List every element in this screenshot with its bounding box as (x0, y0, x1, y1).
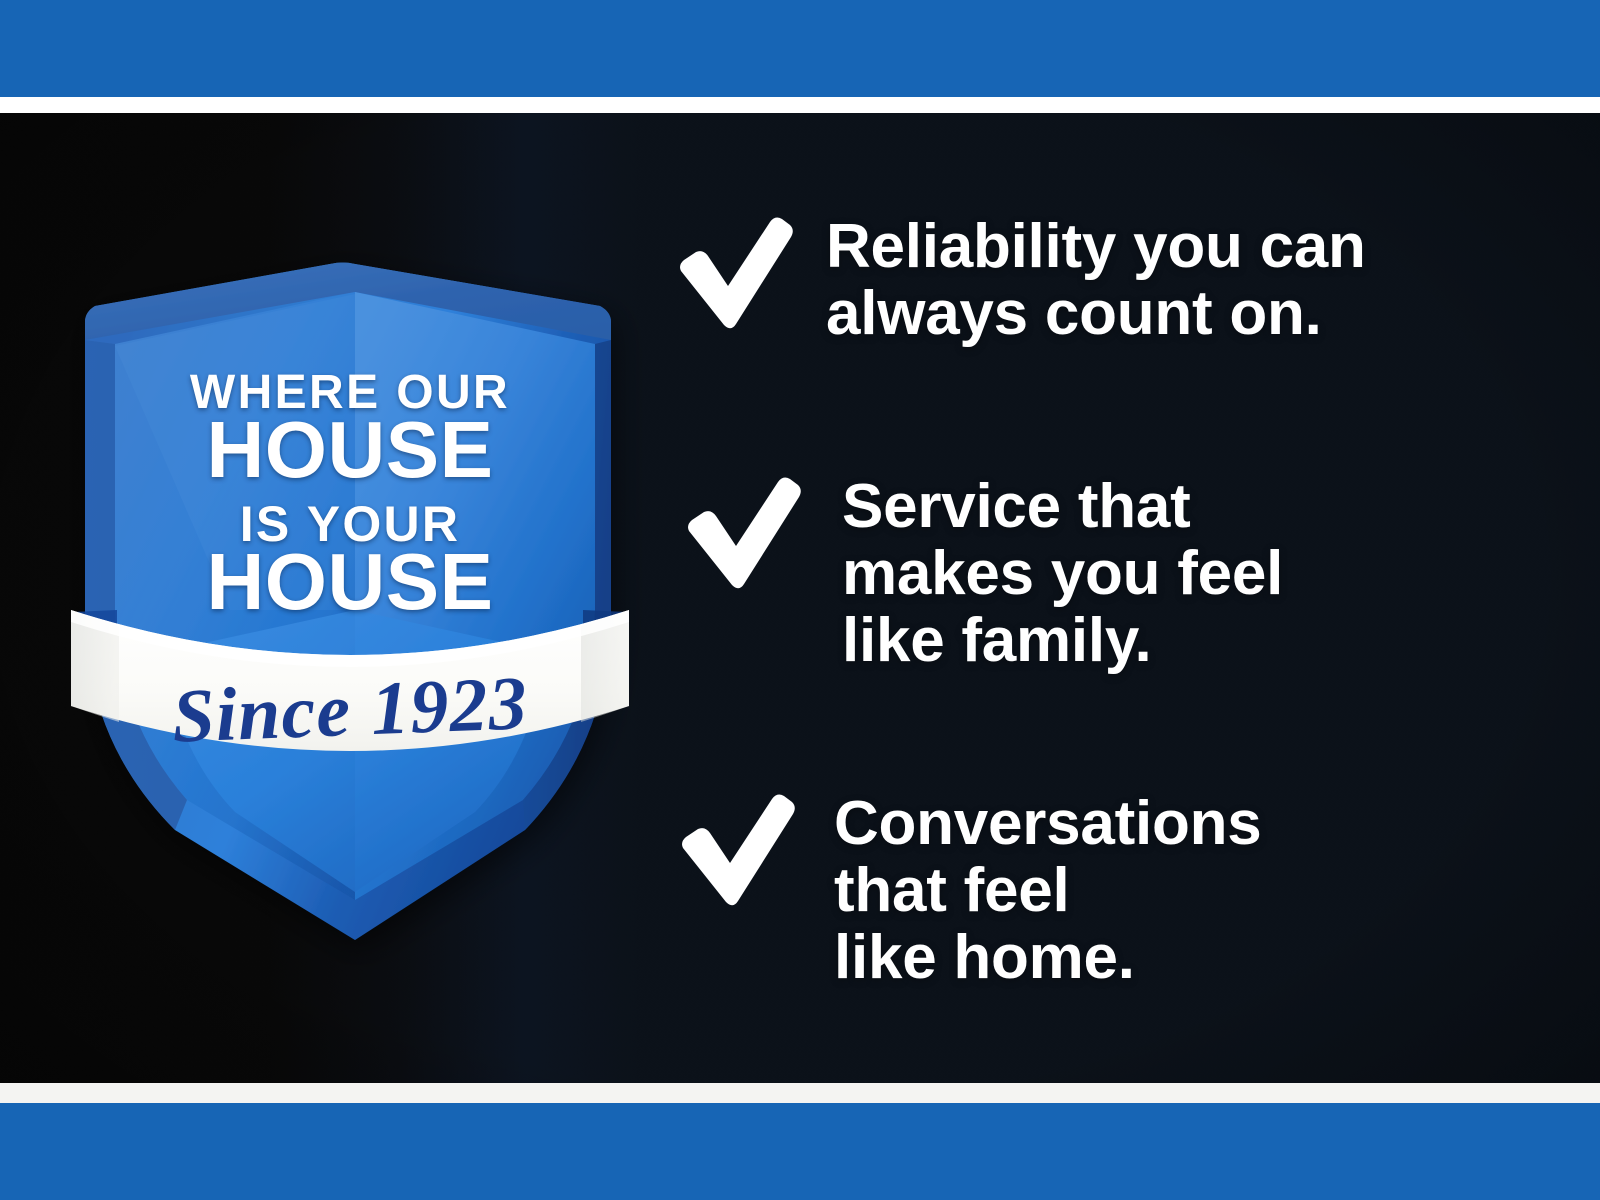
promo-graphic: WHERE OUR HOUSE IS YOUR HOUSE Since 1923… (0, 0, 1600, 1200)
benefit-text-3: Conversations that feel like home. (834, 785, 1261, 992)
top-brand-bar (0, 0, 1600, 97)
check-icon (678, 468, 804, 594)
shield-badge: WHERE OUR HOUSE IS YOUR HOUSE Since 1923 (55, 140, 645, 970)
benefits-list: Reliability you can always count on. Ser… (670, 113, 1560, 1083)
benefit-text-1: Reliability you can always count on. (826, 208, 1366, 348)
benefit-item-3: Conversations that feel like home. (672, 785, 1261, 992)
benefit-item-1: Reliability you can always count on. (670, 208, 1366, 348)
bottom-brand-bar (0, 1103, 1600, 1200)
check-icon (670, 208, 796, 334)
shield-icon (55, 140, 645, 970)
bottom-divider (0, 1083, 1600, 1103)
top-divider (0, 97, 1600, 113)
benefit-text-2: Service that makes you feel like family. (842, 468, 1283, 675)
benefit-item-2: Service that makes you feel like family. (678, 468, 1283, 675)
check-icon (672, 785, 798, 911)
